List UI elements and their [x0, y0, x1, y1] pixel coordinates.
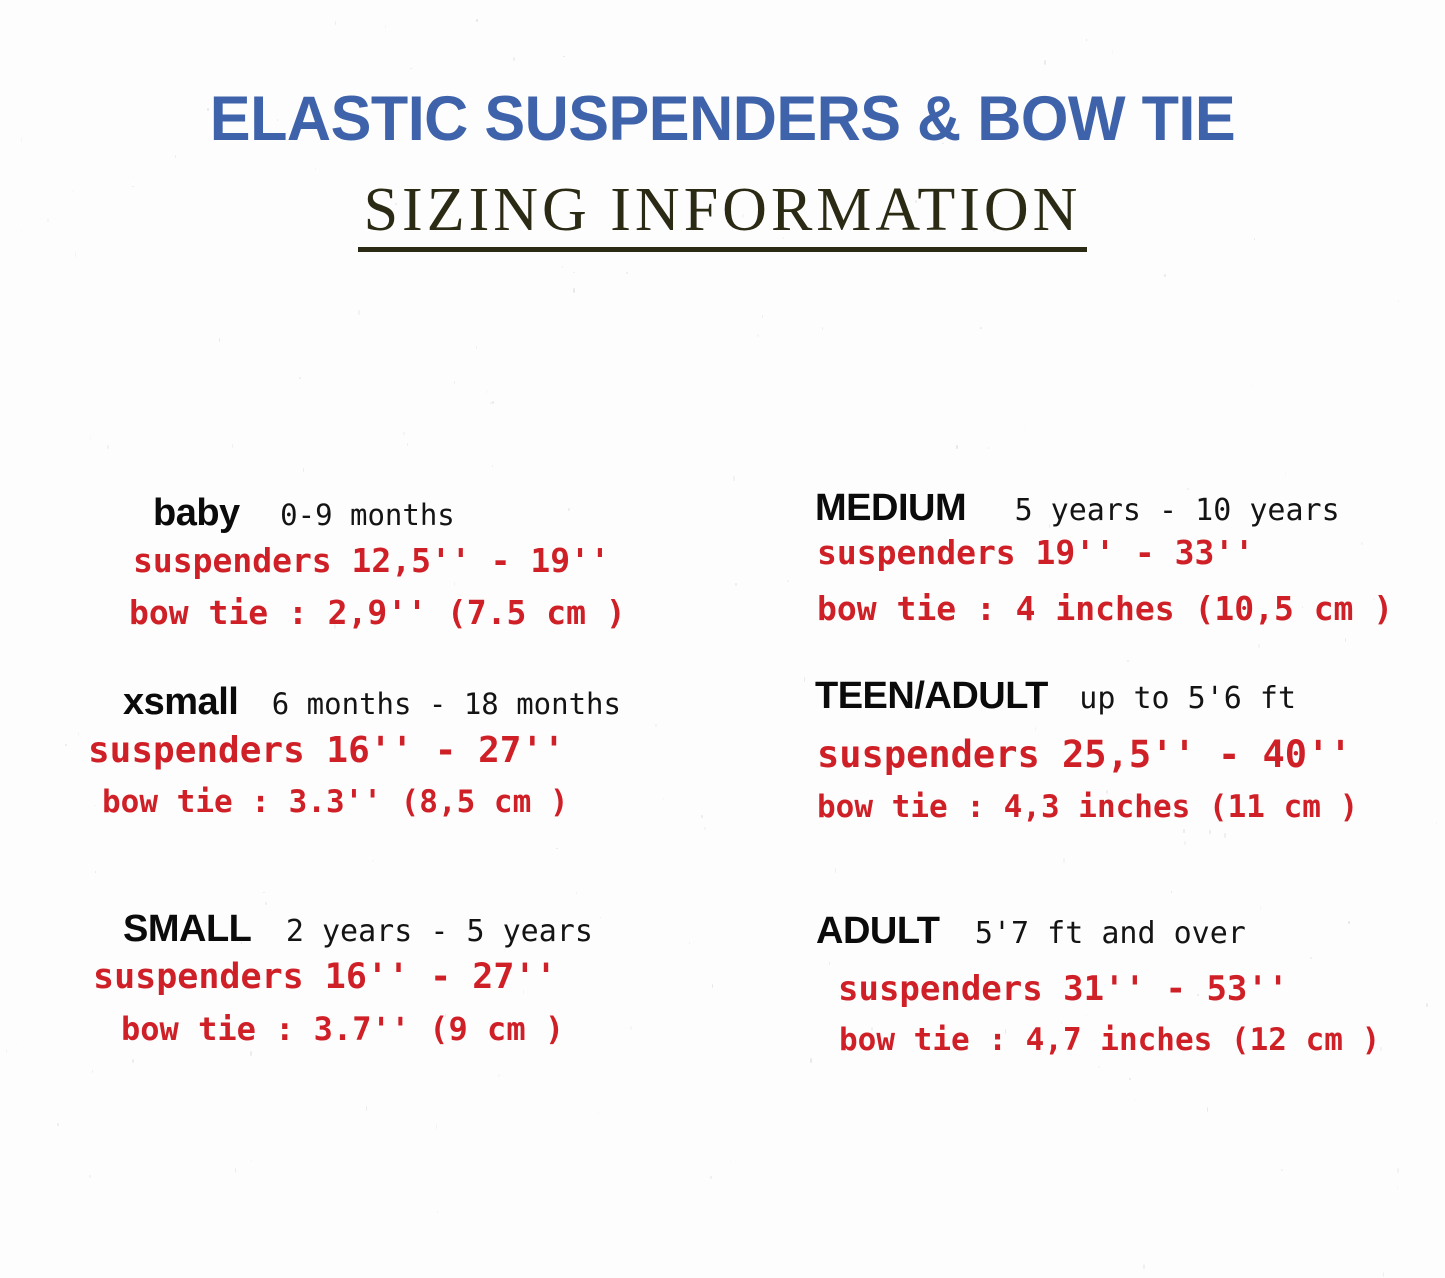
size-header-row-baby: baby 0-9 months: [129, 492, 626, 535]
size-block-xsmall: xsmall 6 months - 18 months suspenders 1…: [88, 681, 621, 820]
age-range-small: 2 years - 5 years: [286, 914, 593, 949]
size-header-row-medium: MEDIUM 5 years - 10 years: [815, 487, 1393, 530]
page-subtitle-container: SIZING INFORMATION: [0, 179, 1445, 252]
suspenders-measure-small: suspenders 16'' - 27'': [93, 957, 593, 997]
age-range-baby: 0-9 months: [280, 498, 455, 532]
size-block-teen-adult: TEEN/ADULT up to 5'6 ft suspenders 25,5'…: [815, 675, 1358, 825]
size-name-teen-adult: TEEN/ADULT: [815, 675, 1048, 717]
suspenders-measure-baby: suspenders 12,5'' - 19'': [129, 541, 626, 580]
bow-tie-measure-adult: bow tie : 4,7 inches (12 cm ): [816, 1022, 1380, 1058]
sizing-chart-page: ELASTIC SUSPENDERS & BOW TIE SIZING INFO…: [0, 0, 1445, 1278]
suspenders-measure-xsmall: suspenders 16'' - 27'': [88, 730, 621, 771]
size-block-adult: ADULT 5'7 ft and over suspenders 31'' - …: [816, 910, 1380, 1058]
size-block-baby: baby 0-9 months suspenders 12,5'' - 19''…: [129, 492, 626, 632]
size-block-small: SMALL 2 years - 5 years suspenders 16'' …: [93, 908, 593, 1048]
size-name-medium: MEDIUM: [815, 487, 966, 529]
suspenders-measure-teen-adult: suspenders 25,5'' - 40'': [815, 733, 1358, 776]
age-range-teen-adult: up to 5'6 ft: [1079, 681, 1296, 716]
size-header-row-xsmall: xsmall 6 months - 18 months: [88, 681, 621, 724]
page-title: ELASTIC SUSPENDERS & BOW TIE: [22, 88, 1424, 151]
suspenders-measure-medium: suspenders 19'' - 33'': [815, 533, 1393, 572]
bow-tie-measure-baby: bow tie : 2,9'' (7.5 cm ): [129, 593, 626, 632]
size-name-small: SMALL: [123, 908, 251, 950]
size-header-row-teen-adult: TEEN/ADULT up to 5'6 ft: [815, 675, 1358, 718]
bow-tie-measure-xsmall: bow tie : 3.3'' (8,5 cm ): [88, 784, 621, 820]
size-block-medium: MEDIUM 5 years - 10 years suspenders 19'…: [815, 487, 1393, 628]
page-subtitle: SIZING INFORMATION: [358, 179, 1088, 252]
size-name-xsmall: xsmall: [123, 681, 238, 723]
size-header-row-adult: ADULT 5'7 ft and over: [816, 910, 1380, 953]
bow-tie-measure-medium: bow tie : 4 inches (10,5 cm ): [815, 589, 1393, 628]
size-name-adult: ADULT: [816, 910, 939, 952]
size-header-row-small: SMALL 2 years - 5 years: [93, 908, 593, 951]
suspenders-measure-adult: suspenders 31'' - 53'': [816, 969, 1380, 1009]
size-name-baby: baby: [153, 492, 240, 534]
bow-tie-measure-teen-adult: bow tie : 4,3 inches (11 cm ): [815, 789, 1358, 825]
age-range-medium: 5 years - 10 years: [1015, 493, 1340, 528]
age-range-xsmall: 6 months - 18 months: [272, 687, 621, 721]
age-range-adult: 5'7 ft and over: [975, 916, 1246, 951]
bow-tie-measure-small: bow tie : 3.7'' (9 cm ): [93, 1010, 593, 1048]
